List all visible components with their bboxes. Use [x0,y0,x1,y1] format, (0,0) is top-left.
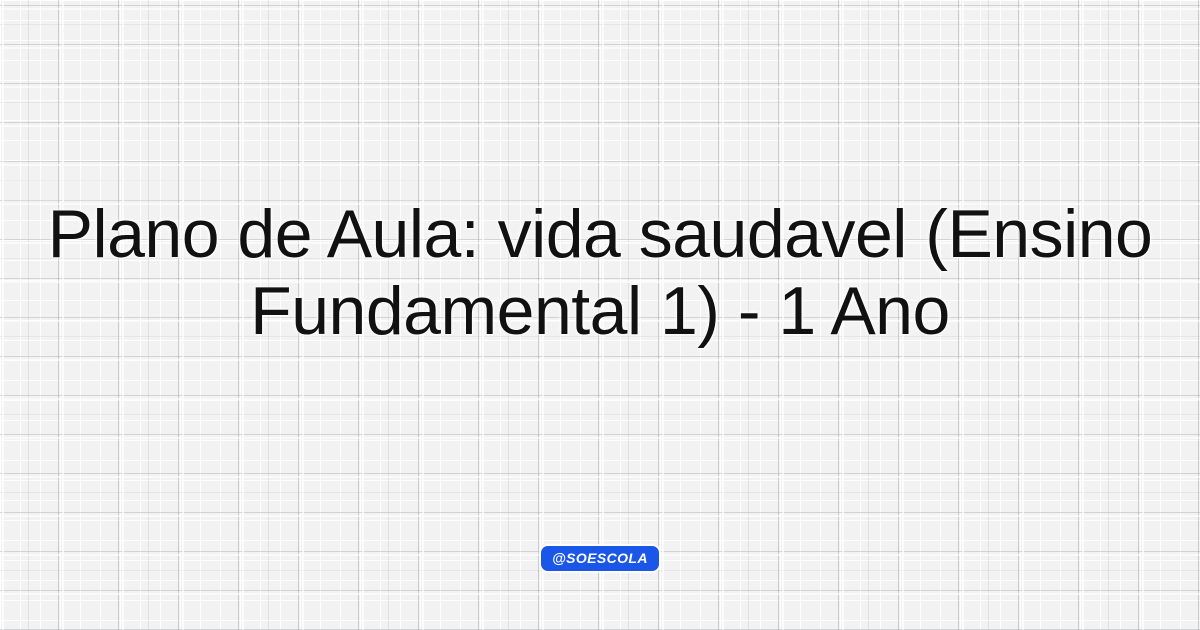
thumbnail-canvas: Plano de Aula: vida saudavel (Ensino Fun… [0,0,1200,630]
background-grid-secondary [0,0,1200,630]
watermark-container: @SOESCOLA [0,546,1200,571]
background-grid-fine [0,0,1200,630]
background-grid-major [0,0,1200,630]
title-container: Plano de Aula: vida saudavel (Ensino Fun… [0,196,1200,350]
page-title: Plano de Aula: vida saudavel (Ensino Fun… [30,196,1170,350]
watermark-badge: @SOESCOLA [541,546,659,571]
background-grid-highlight [0,0,1200,630]
